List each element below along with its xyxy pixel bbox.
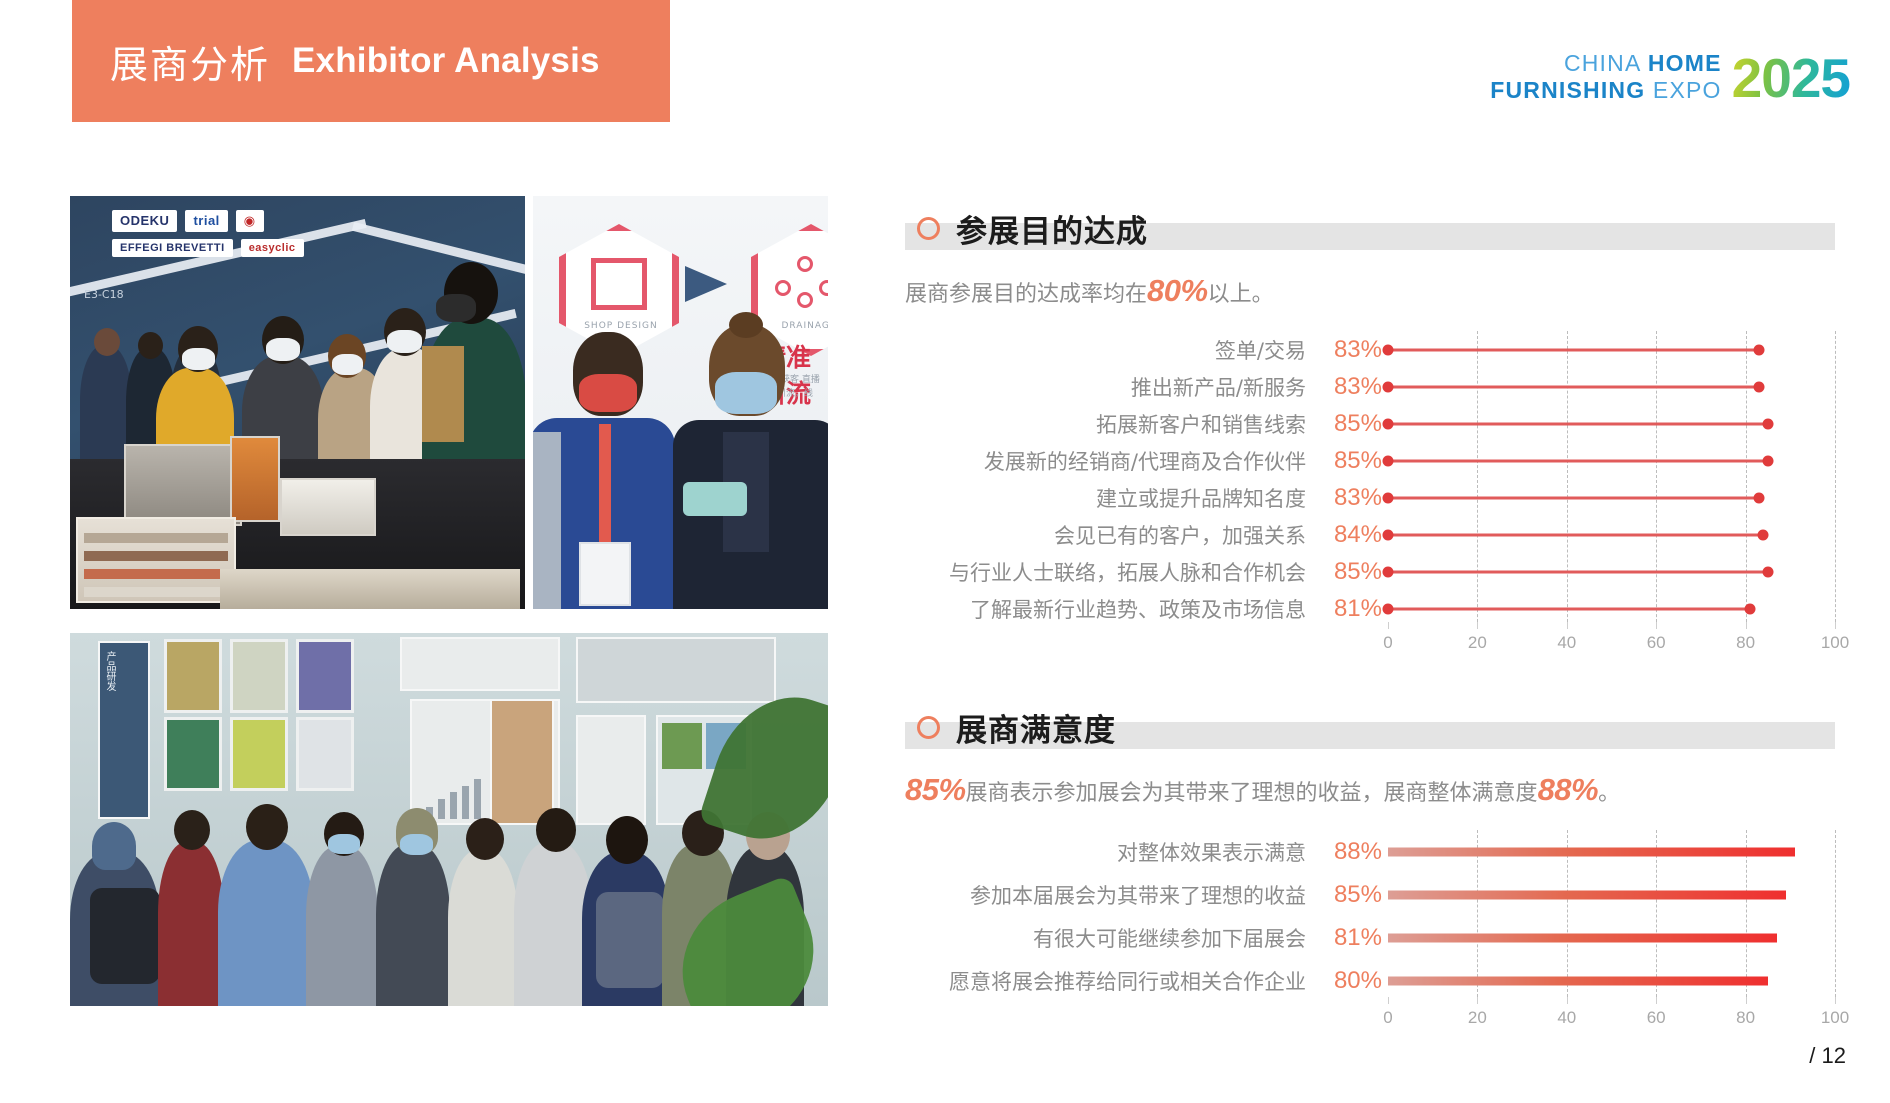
- category-label: 与行业人士联络，拓展人脉和合作机会: [905, 557, 1310, 587]
- category-label: 愿意将展会推荐给同行或相关合作企业: [905, 966, 1310, 996]
- photo2-person-left-sleeve: [533, 432, 561, 609]
- photo2-person-left-lanyard: [599, 424, 611, 544]
- photo1-logo-odeku: ODEKU: [112, 210, 177, 232]
- category-label: 发展新的经销商/代理商及合作伙伴: [905, 446, 1310, 476]
- axis-tick-label: 80: [1736, 1008, 1755, 1028]
- lollipop-line: [1388, 459, 1768, 462]
- bar-track: [1388, 830, 1835, 873]
- photo3-text-panel: [400, 637, 560, 691]
- photo3-person: [514, 842, 592, 1006]
- axis-tickmark: [1835, 622, 1836, 629]
- photo1-logo-trial: trial: [185, 210, 227, 232]
- lollipop-line: [1388, 607, 1750, 610]
- logo-furnishing: FURNISHING: [1490, 77, 1653, 103]
- chart-row: 拓展新客户和销售线索85%: [905, 405, 1835, 442]
- section2-subtitle-post: 。: [1598, 781, 1620, 806]
- bar-rows: 对整体效果表示满意88%参加本届展会为其带来了理想的收益85%有很大可能继续参加…: [905, 830, 1835, 1002]
- header-left-rule: [68, 0, 72, 122]
- category-label: 有很大可能继续参加下届展会: [905, 923, 1310, 953]
- photo3-person-hood: [92, 822, 136, 870]
- photo3-image-thumb: [662, 723, 702, 769]
- photo1-face-mask: [266, 338, 300, 361]
- photo3-person: [376, 844, 450, 1006]
- value-label: 80%: [1310, 967, 1388, 995]
- photo-exhibition-booth-visitors: ODEKU trial ◉ EFFEGI BREVETTI easyclic E…: [70, 196, 525, 609]
- photo3-person-head: [606, 816, 648, 864]
- axis-tickmark: [1567, 622, 1568, 629]
- chart-exhibitor-satisfaction: 对整体效果表示满意88%参加本届展会为其带来了理想的收益85%有很大可能继续参加…: [905, 830, 1835, 1032]
- expo-logo-line1: CHINA HOME: [1490, 52, 1721, 75]
- photo2-person-left-badge: [579, 542, 631, 606]
- value-label: 81%: [1310, 924, 1388, 952]
- photo1-face-mask: [332, 354, 363, 375]
- lollipop-dot-end: [1745, 603, 1756, 614]
- header-title-cn: 展商分析: [110, 34, 270, 89]
- photo3-sample-tile: [230, 717, 288, 791]
- photo3-face-mask: [328, 834, 360, 854]
- lollipop-dot-end: [1754, 492, 1765, 503]
- chart-exhibition-goals: 签单/交易83%推出新产品/新服务83%拓展新客户和销售线索85%发展新的经销商…: [905, 331, 1835, 657]
- category-label: 会见已有的客户，加强关系: [905, 520, 1310, 550]
- bar: [1388, 890, 1786, 899]
- chart-row: 了解最新行业趋势、政策及市场信息81%: [905, 590, 1835, 627]
- lollipop-track: [1388, 553, 1835, 590]
- photo2-person-right-mask: [715, 372, 777, 414]
- photo3-person-head: [174, 810, 210, 850]
- photo3-sample-tile: [230, 639, 288, 713]
- value-label: 85%: [1310, 881, 1388, 909]
- photo1-sample-box: [280, 478, 376, 536]
- photo1-sponsor-logos: ODEKU trial ◉ EFFEGI BREVETTI easyclic: [112, 210, 304, 257]
- lollipop-dot-start: [1383, 603, 1394, 614]
- section2-subtitle-highlight2: 88%: [1538, 772, 1599, 807]
- value-label: 85%: [1310, 447, 1388, 475]
- lollipop-dot-end: [1762, 455, 1773, 466]
- chart-row: 建立或提升品牌知名度83%: [905, 479, 1835, 516]
- lollipop-track: [1388, 405, 1835, 442]
- lollipop-line: [1388, 570, 1768, 573]
- photo1-person-head: [138, 332, 163, 359]
- section2-subtitle-highlight1: 85%: [905, 772, 966, 807]
- photo2-person-left-mask: [579, 374, 637, 412]
- category-label: 对整体效果表示满意: [905, 837, 1310, 867]
- value-label: 83%: [1310, 484, 1388, 512]
- photo3-person-head: [536, 808, 576, 852]
- photo1-booth-code: E3-C18: [84, 288, 124, 301]
- chart-row: 参加本届展会为其带来了理想的收益85%: [905, 873, 1835, 916]
- photo3-face-mask: [400, 834, 433, 855]
- bar: [1388, 976, 1768, 985]
- lollipop-track: [1388, 590, 1835, 627]
- axis-tick-label: 20: [1468, 633, 1487, 653]
- logo-home: HOME: [1648, 50, 1722, 76]
- axis-tick-label: 40: [1557, 1008, 1576, 1028]
- logo-china: CHINA: [1564, 50, 1648, 76]
- photo1-logo-row: EFFEGI BREVETTI easyclic: [112, 239, 304, 257]
- lollipop-dot-start: [1383, 418, 1394, 429]
- section1-subtitle-pre: 展商参展目的达成率均在: [905, 282, 1147, 307]
- page-number: / 12: [1809, 1043, 1846, 1069]
- category-label: 推出新产品/新服务: [905, 372, 1310, 402]
- photo2-shop-design-glyph: [591, 258, 647, 310]
- axis-tick-label: 80: [1736, 633, 1755, 653]
- lollipop-dot-start: [1383, 566, 1394, 577]
- photo1-logo-effegi: EFFEGI BREVETTI: [112, 239, 233, 257]
- photo1-varsity-sleeve: [422, 346, 464, 442]
- lollipop-dot-start: [1383, 529, 1394, 540]
- photo3-sample-tile: [296, 717, 354, 791]
- logo-year: 2025: [1732, 52, 1850, 104]
- expo-logo: CHINA HOME FURNISHING EXPO 2025: [1490, 52, 1850, 104]
- category-label: 参加本届展会为其带来了理想的收益: [905, 880, 1310, 910]
- lollipop-line: [1388, 385, 1759, 388]
- axis-tickmark: [1567, 997, 1568, 1004]
- axis-tick-label: 40: [1557, 633, 1576, 653]
- axis-tick-label: 100: [1821, 633, 1849, 653]
- category-label: 了解最新行业趋势、政策及市场信息: [905, 594, 1310, 624]
- x-axis: 020406080100: [905, 627, 1835, 657]
- section2-subtitle-mid: 展商表示参加展会为其带来了理想的收益，展商整体满意度: [966, 781, 1538, 806]
- slide: 展商分析 Exhibitor Analysis CHINA HOME FURNI…: [0, 0, 1890, 1103]
- bar-track: [1388, 873, 1835, 916]
- value-label: 85%: [1310, 558, 1388, 586]
- photo1-logo-easyclic: easyclic: [241, 239, 304, 257]
- value-label: 83%: [1310, 373, 1388, 401]
- lollipop-dot-end: [1754, 344, 1765, 355]
- chart-row: 会见已有的客户，加强关系84%: [905, 516, 1835, 553]
- x-axis: 020406080100: [905, 1002, 1835, 1032]
- photo3-backpack: [90, 888, 160, 984]
- lollipop-dot-end: [1754, 381, 1765, 392]
- photo3-person: [448, 850, 518, 1006]
- photo1-logo-row: ODEKU trial ◉: [112, 210, 304, 232]
- axis-tickmark: [1388, 622, 1389, 629]
- chart-row: 愿意将展会推荐给同行或相关合作企业80%: [905, 959, 1835, 1002]
- photo3-banner-title: 产品研发: [102, 651, 117, 691]
- grid-line: [1835, 830, 1836, 1002]
- chart-row: 与行业人士联络，拓展人脉和合作机会85%: [905, 553, 1835, 590]
- lollipop-line: [1388, 533, 1763, 536]
- photo2-smartphone: [683, 482, 747, 516]
- section1-subtitle-post: 以上。: [1208, 282, 1274, 307]
- axis-tickmark: [1477, 997, 1478, 1004]
- lollipop-dot-start: [1383, 381, 1394, 392]
- axis-tickmark: [1656, 622, 1657, 629]
- photo1-samples-flat: [220, 569, 520, 609]
- axis-tick-label: 100: [1821, 1008, 1849, 1028]
- photo1-sample-box-orange: [230, 436, 280, 522]
- lollipop-track: [1388, 442, 1835, 479]
- circle-bullet-icon: [917, 217, 940, 240]
- photo2-drainage-glyph: [775, 256, 828, 312]
- value-label: 88%: [1310, 838, 1388, 866]
- photo3-sample-tile: [164, 639, 222, 713]
- photo3-person: [306, 846, 378, 1006]
- photo3-backpack: [596, 892, 664, 988]
- axis-tickmark: [1388, 997, 1389, 1004]
- value-label: 85%: [1310, 410, 1388, 438]
- axis-tick-label: 60: [1647, 633, 1666, 653]
- section1-subtitle: 展商参展目的达成率均在80%以上。: [905, 273, 1835, 309]
- section1-subtitle-highlight: 80%: [1147, 273, 1208, 308]
- section1-header: 参展目的达成: [905, 206, 1835, 250]
- lollipop-track: [1388, 368, 1835, 405]
- axis-tickmark: [1835, 997, 1836, 1004]
- category-label: 建立或提升品牌知名度: [905, 483, 1310, 513]
- axis-tickmark: [1746, 997, 1747, 1004]
- value-label: 81%: [1310, 595, 1388, 623]
- expo-logo-wordmark: CHINA HOME FURNISHING EXPO: [1490, 52, 1721, 104]
- photo2-label-shop-design: SHOP DESIGN: [575, 320, 667, 334]
- lollipop-dot-end: [1762, 418, 1773, 429]
- photo-crowded-exhibition-hall: 产品研发: [70, 633, 828, 1006]
- bar: [1388, 933, 1777, 942]
- section2-subtitle: 85%展商表示参加展会为其带来了理想的收益，展商整体满意度88%。: [905, 772, 1835, 808]
- photo3-person-head: [246, 804, 288, 850]
- lollipop-track: [1388, 331, 1835, 368]
- axis-tick-label: 0: [1383, 1008, 1392, 1028]
- expo-logo-line2: FURNISHING EXPO: [1490, 79, 1721, 102]
- chart-row: 推出新产品/新服务83%: [905, 368, 1835, 405]
- section-exhibition-goals: 参展目的达成 展商参展目的达成率均在80%以上。 签单/交易83%推出新产品/新…: [905, 206, 1835, 657]
- lollipop-dot-end: [1762, 566, 1773, 577]
- photo1-face-mask: [387, 330, 422, 353]
- lollipop-dot-end: [1758, 529, 1769, 540]
- axis-tick-label: 20: [1468, 1008, 1487, 1028]
- axis-tickmark: [1746, 622, 1747, 629]
- axis-tick-label: 60: [1647, 1008, 1666, 1028]
- lollipop-line: [1388, 348, 1759, 351]
- photo1-face-mask: [182, 348, 215, 370]
- section1-title: 参展目的达成: [956, 206, 1148, 251]
- lollipop-dot-start: [1383, 492, 1394, 503]
- lollipop-line: [1388, 422, 1768, 425]
- photo2-arrow-icon: [685, 266, 727, 302]
- bar: [1388, 847, 1795, 856]
- category-label: 签单/交易: [905, 335, 1310, 365]
- lollipop-track: [1388, 516, 1835, 553]
- bar-track: [1388, 916, 1835, 959]
- chart-row: 对整体效果表示满意88%: [905, 830, 1835, 873]
- chart-row: 发展新的经销商/代理商及合作伙伴85%: [905, 442, 1835, 479]
- logo-expo: EXPO: [1653, 77, 1722, 103]
- photo1-person-head: [94, 328, 120, 356]
- lollipop-rows: 签单/交易83%推出新产品/新服务83%拓展新客户和销售线索85%发展新的经销商…: [905, 331, 1835, 627]
- grid-line: [1835, 331, 1836, 627]
- category-label: 拓展新客户和销售线索: [905, 409, 1310, 439]
- axis-tick-label: 0: [1383, 633, 1392, 653]
- bar-track: [1388, 959, 1835, 1002]
- header-title-en: Exhibitor Analysis: [292, 41, 600, 81]
- section2-title: 展商满意度: [956, 705, 1116, 750]
- header-banner: 展商分析 Exhibitor Analysis: [68, 0, 670, 122]
- chart-row: 有很大可能继续参加下届展会81%: [905, 916, 1835, 959]
- photo3-person-head: [466, 818, 504, 860]
- photo1-logo-mark3: ◉: [236, 210, 264, 232]
- axis-tickmark: [1656, 997, 1657, 1004]
- section2-header: 展商满意度: [905, 705, 1835, 749]
- photo-two-visitors-phone: SHOP DESIGN DRAINAGE 精准引流 线上获客 直播 精准引流，线: [533, 196, 828, 609]
- photo1-material-samples: [76, 517, 236, 603]
- chart-row: 签单/交易83%: [905, 331, 1835, 368]
- photo3-person-red-folder: [158, 842, 224, 1006]
- photo1-face-mask: [436, 294, 476, 322]
- value-label: 83%: [1310, 336, 1388, 364]
- photo2-person-right-bun: [729, 312, 763, 338]
- photo3-text-panel: [576, 637, 776, 703]
- lollipop-dot-start: [1383, 344, 1394, 355]
- photo3-sample-tile: [296, 639, 354, 713]
- lollipop-dot-start: [1383, 455, 1394, 466]
- circle-bullet-icon: [917, 716, 940, 739]
- photo3-sample-tile: [164, 717, 222, 791]
- value-label: 84%: [1310, 521, 1388, 549]
- lollipop-track: [1388, 479, 1835, 516]
- lollipop-line: [1388, 496, 1759, 499]
- photo1-sample-box: [124, 444, 242, 526]
- photo3-person-denim: [218, 840, 314, 1006]
- axis-tickmark: [1477, 622, 1478, 629]
- section-exhibitor-satisfaction: 展商满意度 85%展商表示参加展会为其带来了理想的收益，展商整体满意度88%。 …: [905, 705, 1835, 1032]
